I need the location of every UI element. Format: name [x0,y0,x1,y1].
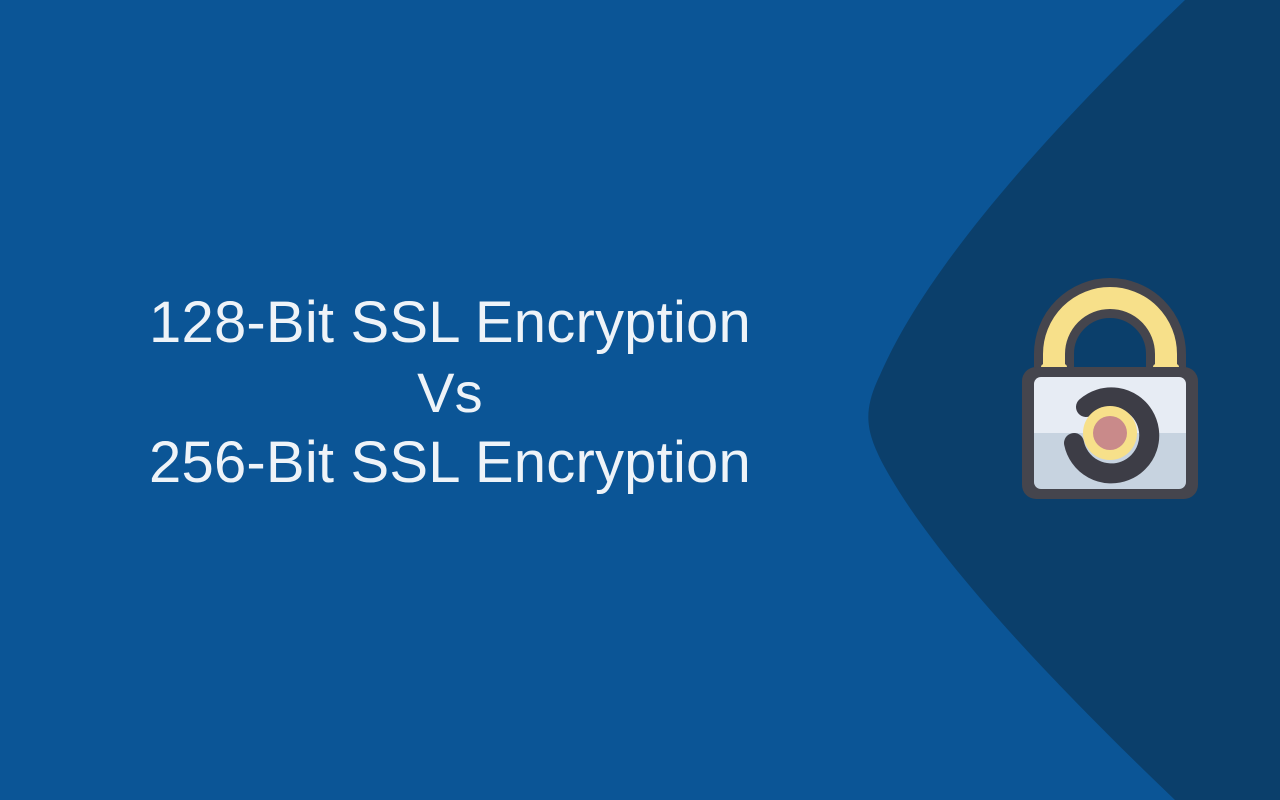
title-line-3: 256-Bit SSL Encryption [0,428,900,498]
page-title: 128-Bit SSL Encryption Vs 256-Bit SSL En… [0,288,900,498]
padlock-icon [1008,262,1212,508]
title-line-1: 128-Bit SSL Encryption [0,288,900,358]
title-line-2-versus: Vs [0,358,900,428]
padlock-keyhole-center [1093,416,1127,450]
slide-canvas: 128-Bit SSL Encryption Vs 256-Bit SSL En… [0,0,1280,800]
